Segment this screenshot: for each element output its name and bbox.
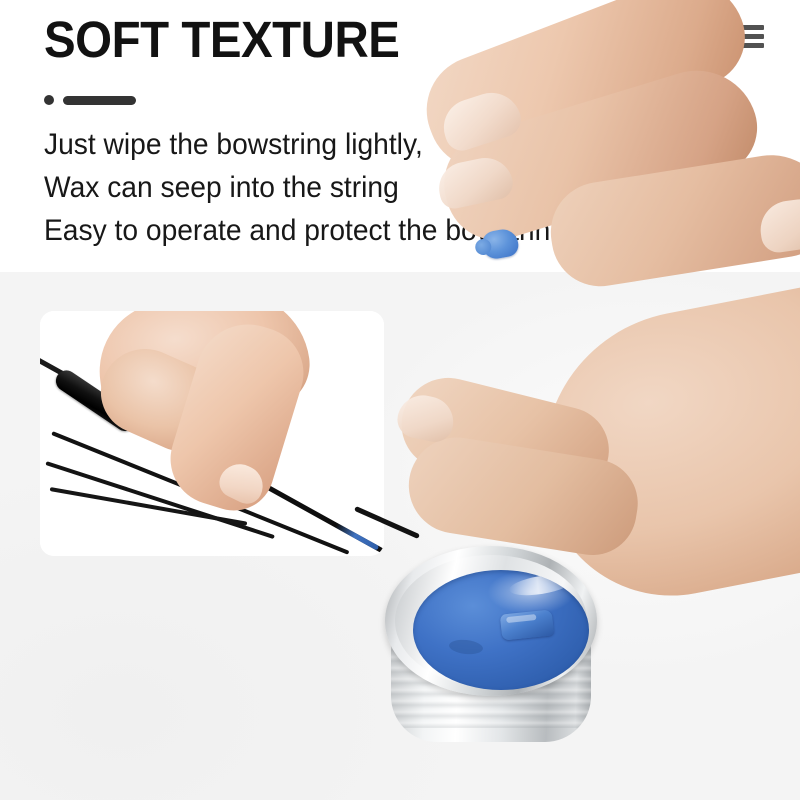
inset-hand (92, 311, 342, 507)
wax-scoop-mark (500, 609, 554, 640)
wax-highlight (508, 571, 574, 599)
inset-photo-stage (40, 311, 384, 556)
wax-tin (385, 546, 599, 761)
blue-wax-surface (413, 570, 589, 690)
wax-dimple (448, 638, 483, 655)
product-banner-page: SOFT TEXTURE Just wipe the bowstring lig… (0, 0, 800, 800)
accent-dot (44, 95, 54, 105)
wax-tin-inner-rim (395, 555, 587, 687)
accent-rule (44, 93, 136, 107)
scooping-hand (430, 0, 800, 322)
wax-tin-rim (385, 546, 597, 696)
accent-bar (63, 96, 136, 105)
inset-photo-bowstring-wipe (40, 311, 384, 556)
page-title: SOFT TEXTURE (44, 8, 399, 72)
